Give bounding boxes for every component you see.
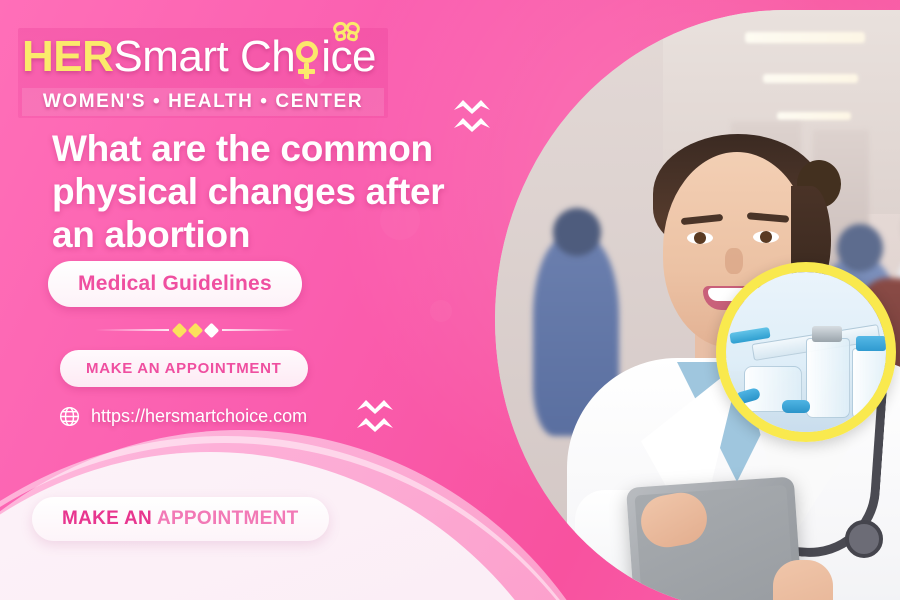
ceiling-light bbox=[745, 32, 865, 43]
vial-cap-silver bbox=[812, 326, 842, 342]
divider-line-left bbox=[95, 329, 169, 331]
diamond-icon bbox=[171, 322, 187, 338]
doctor-photo-panel bbox=[455, 0, 900, 600]
bokeh-speck bbox=[430, 300, 452, 322]
promotional-banner: HERSmart Chice WOMEN'S • HEALTH • CENTER… bbox=[0, 0, 900, 600]
venus-symbol-icon bbox=[295, 37, 321, 81]
doctor-eye bbox=[753, 231, 779, 243]
bottom-make-appointment-button[interactable]: MAKE AN APPOINTMENT bbox=[32, 497, 329, 541]
vial-upright bbox=[806, 338, 850, 418]
loose-blue-cap bbox=[782, 400, 810, 413]
doctor-eye bbox=[687, 232, 713, 244]
stethoscope-bell bbox=[845, 520, 883, 558]
decorative-divider bbox=[95, 322, 295, 338]
brand-tagline: WOMEN'S • HEALTH • CENTER bbox=[22, 88, 384, 116]
divider-line-right bbox=[222, 329, 296, 331]
page-title: What are the common physical changes aft… bbox=[52, 128, 492, 257]
vial-cap-blue bbox=[856, 336, 886, 351]
website-url-text: https://hersmartchoice.com bbox=[91, 406, 307, 427]
zigzag-chevron-icon bbox=[355, 398, 395, 432]
diamond-icon bbox=[187, 322, 203, 338]
logo-her-text: HER bbox=[22, 32, 113, 81]
website-link[interactable]: https://hersmartchoice.com bbox=[58, 405, 307, 428]
logo-smart-ch-text: Smart Ch bbox=[113, 32, 295, 81]
doctor-hand bbox=[773, 560, 833, 600]
iris bbox=[760, 231, 772, 243]
bottom-cta-strong-text: MAKE AN bbox=[62, 508, 157, 529]
zigzag-chevron-icon bbox=[452, 98, 492, 132]
make-appointment-button[interactable]: MAKE AN APPOINTMENT bbox=[60, 350, 308, 387]
butterfly-icon bbox=[333, 22, 363, 46]
ceiling-light bbox=[763, 74, 858, 83]
bottom-cta-light-text: APPOINTMENT bbox=[157, 508, 299, 529]
globe-icon bbox=[58, 405, 81, 428]
vaccine-vials-inset bbox=[716, 262, 896, 442]
diamond-icon bbox=[203, 322, 219, 338]
iris bbox=[694, 232, 706, 244]
medical-guidelines-badge[interactable]: Medical Guidelines bbox=[48, 261, 302, 307]
doctor-nose bbox=[725, 248, 743, 274]
